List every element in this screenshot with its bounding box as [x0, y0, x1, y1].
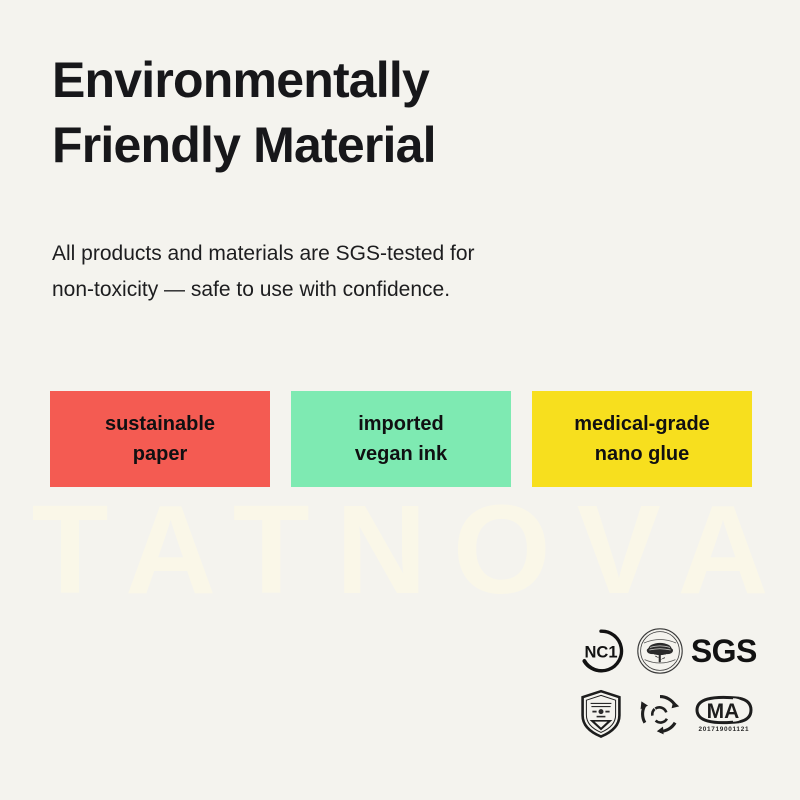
material-chip-line-2: vegan ink [355, 439, 447, 469]
recycling-arrows-icon [631, 685, 690, 743]
page-subtitle: All products and materials are SGS-teste… [52, 236, 672, 308]
shield-badge-icon [572, 685, 631, 743]
page-title-line-2: Friendly Material [52, 113, 752, 178]
material-chip-line-1: sustainable [105, 409, 215, 439]
material-chip-group: sustainable paper imported vegan ink med… [50, 391, 752, 487]
nc1-circle-icon: NC1 [572, 622, 631, 680]
sgs-wordmark-icon: SGS [690, 622, 758, 680]
tree-seal-icon [631, 622, 690, 680]
material-chip-line-1: medical-grade [574, 409, 710, 439]
page-title-line-1: Environmentally [52, 48, 752, 113]
certification-row-top: NC1 [572, 620, 758, 680]
material-chip-imported-vegan-ink: imported vegan ink [291, 391, 511, 487]
certification-row-bottom: MA 201719001121 [572, 683, 758, 743]
svg-text:NC1: NC1 [585, 643, 618, 661]
certification-badge-group: NC1 [572, 620, 758, 743]
page-subtitle-line-1: All products and materials are SGS-teste… [52, 236, 672, 272]
page-subtitle-line-2: non-toxicity — safe to use with confiden… [52, 272, 672, 308]
cma-oval-icon: MA 201719001121 [690, 685, 758, 743]
material-chip-line-2: nano glue [595, 439, 689, 469]
material-chip-medical-grade-nano-glue: medical-grade nano glue [532, 391, 752, 487]
material-chip-sustainable-paper: sustainable paper [50, 391, 270, 487]
material-chip-line-2: paper [133, 439, 187, 469]
brand-watermark: TATNOVA [0, 487, 800, 613]
material-chip-line-1: imported [358, 409, 444, 439]
svg-text:MA: MA [707, 700, 740, 723]
page-title: Environmentally Friendly Material [52, 48, 752, 178]
poster-canvas: TATNOVA Environmentally Friendly Materia… [0, 0, 800, 800]
sgs-label: SGS [691, 635, 757, 667]
cma-code-label: 201719001121 [699, 726, 750, 733]
